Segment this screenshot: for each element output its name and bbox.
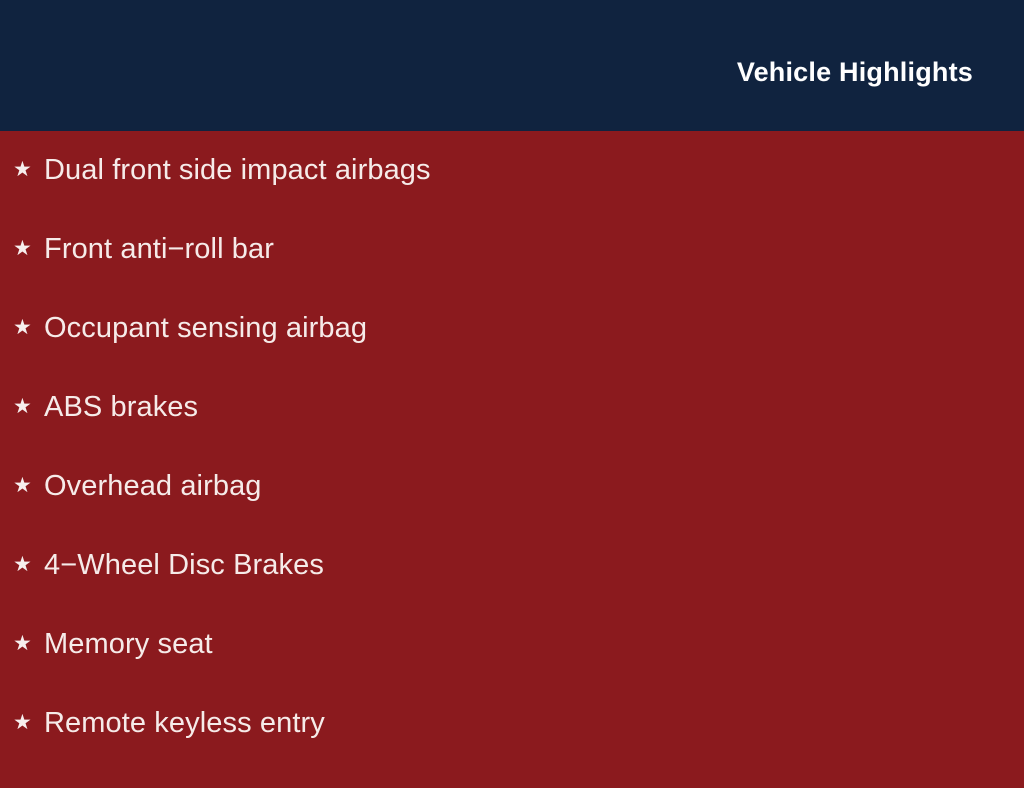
list-item: ★ Remote keyless entry xyxy=(0,709,1024,788)
list-item: ★ Dual front side impact airbags xyxy=(0,131,1024,235)
star-bullet-icon: ★ xyxy=(13,475,44,496)
star-bullet-icon: ★ xyxy=(13,396,44,417)
page-title: Vehicle Highlights xyxy=(737,45,973,86)
star-bullet-icon: ★ xyxy=(13,554,44,575)
slide-header: Vehicle Highlights xyxy=(0,0,1024,131)
list-item: ★ ABS brakes xyxy=(0,393,1024,472)
vehicle-highlights-list: ★ Dual front side impact airbags ★ Front… xyxy=(0,131,1024,788)
highlight-label: Occupant sensing airbag xyxy=(44,314,367,343)
list-item: ★ Memory seat xyxy=(0,630,1024,709)
highlight-label: Remote keyless entry xyxy=(44,709,325,738)
highlight-label: 4−Wheel Disc Brakes xyxy=(44,551,324,580)
highlight-label: Memory seat xyxy=(44,630,213,659)
highlight-label: Front anti−roll bar xyxy=(44,235,274,264)
star-bullet-icon: ★ xyxy=(13,317,44,338)
list-item: ★ 4−Wheel Disc Brakes xyxy=(0,551,1024,630)
slide-body: ★ Dual front side impact airbags ★ Front… xyxy=(0,131,1024,768)
star-bullet-icon: ★ xyxy=(13,159,44,180)
star-bullet-icon: ★ xyxy=(13,633,44,654)
vehicle-highlights-slide: Vehicle Highlights ★ Dual front side imp… xyxy=(0,0,1024,768)
list-item: ★ Occupant sensing airbag xyxy=(0,314,1024,393)
highlight-label: Overhead airbag xyxy=(44,472,262,501)
highlight-label: ABS brakes xyxy=(44,393,198,422)
highlight-label: Dual front side impact airbags xyxy=(44,156,431,185)
star-bullet-icon: ★ xyxy=(13,712,44,733)
list-item: ★ Front anti−roll bar xyxy=(0,235,1024,314)
list-item: ★ Overhead airbag xyxy=(0,472,1024,551)
star-bullet-icon: ★ xyxy=(13,238,44,259)
